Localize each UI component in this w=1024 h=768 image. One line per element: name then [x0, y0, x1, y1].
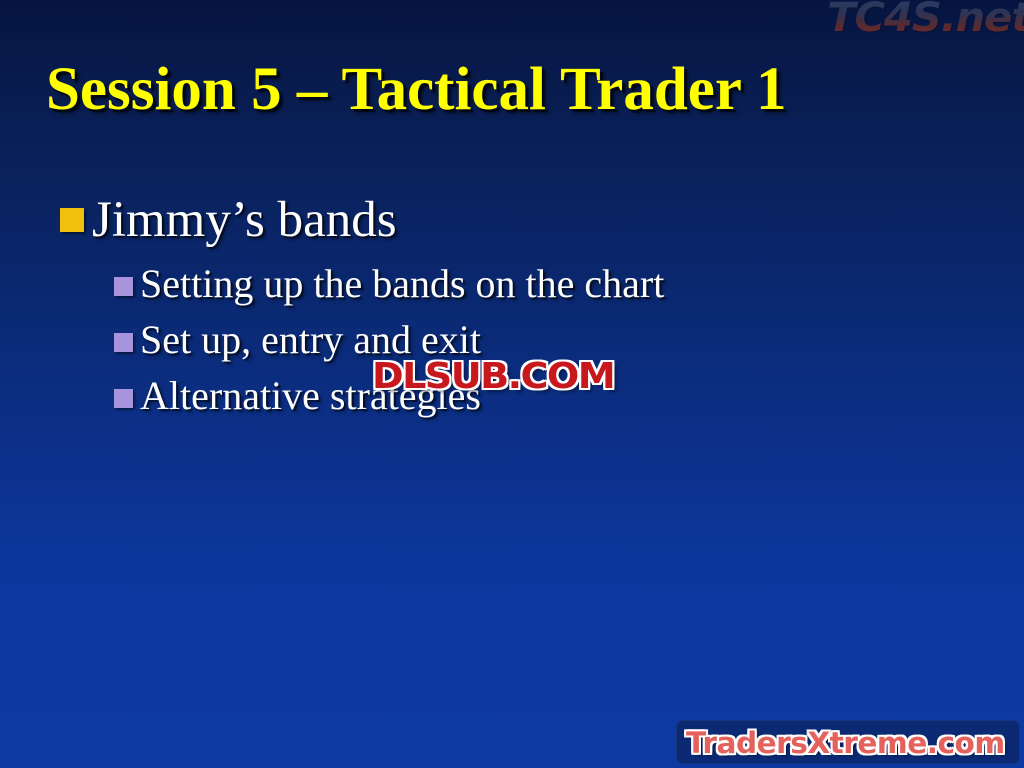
- slide-title: Session 5 – Tactical Trader 1: [46, 58, 986, 122]
- watermark-dlsub: DLSUB.COM: [372, 356, 614, 397]
- bullet-level1-label: Jimmy’s bands: [92, 192, 397, 249]
- presentation-slide: Session 5 – Tactical Trader 1 Jimmy’s ba…: [0, 0, 1024, 768]
- lavender-square-bullet-icon: [114, 277, 133, 296]
- watermark-tradersxtreme: TradersXtreme.com: [686, 726, 1005, 760]
- lavender-square-bullet-icon: [114, 389, 133, 408]
- gold-square-bullet-icon: [60, 208, 84, 232]
- bullet-level2-label: Setting up the bands on the chart: [140, 261, 664, 307]
- list-item: Jimmy’s bands: [0, 192, 1024, 249]
- lavender-square-bullet-icon: [114, 333, 133, 352]
- list-item: Setting up the bands on the chart: [0, 261, 1024, 307]
- watermark-tc4s: TC4S.net: [827, 0, 1024, 38]
